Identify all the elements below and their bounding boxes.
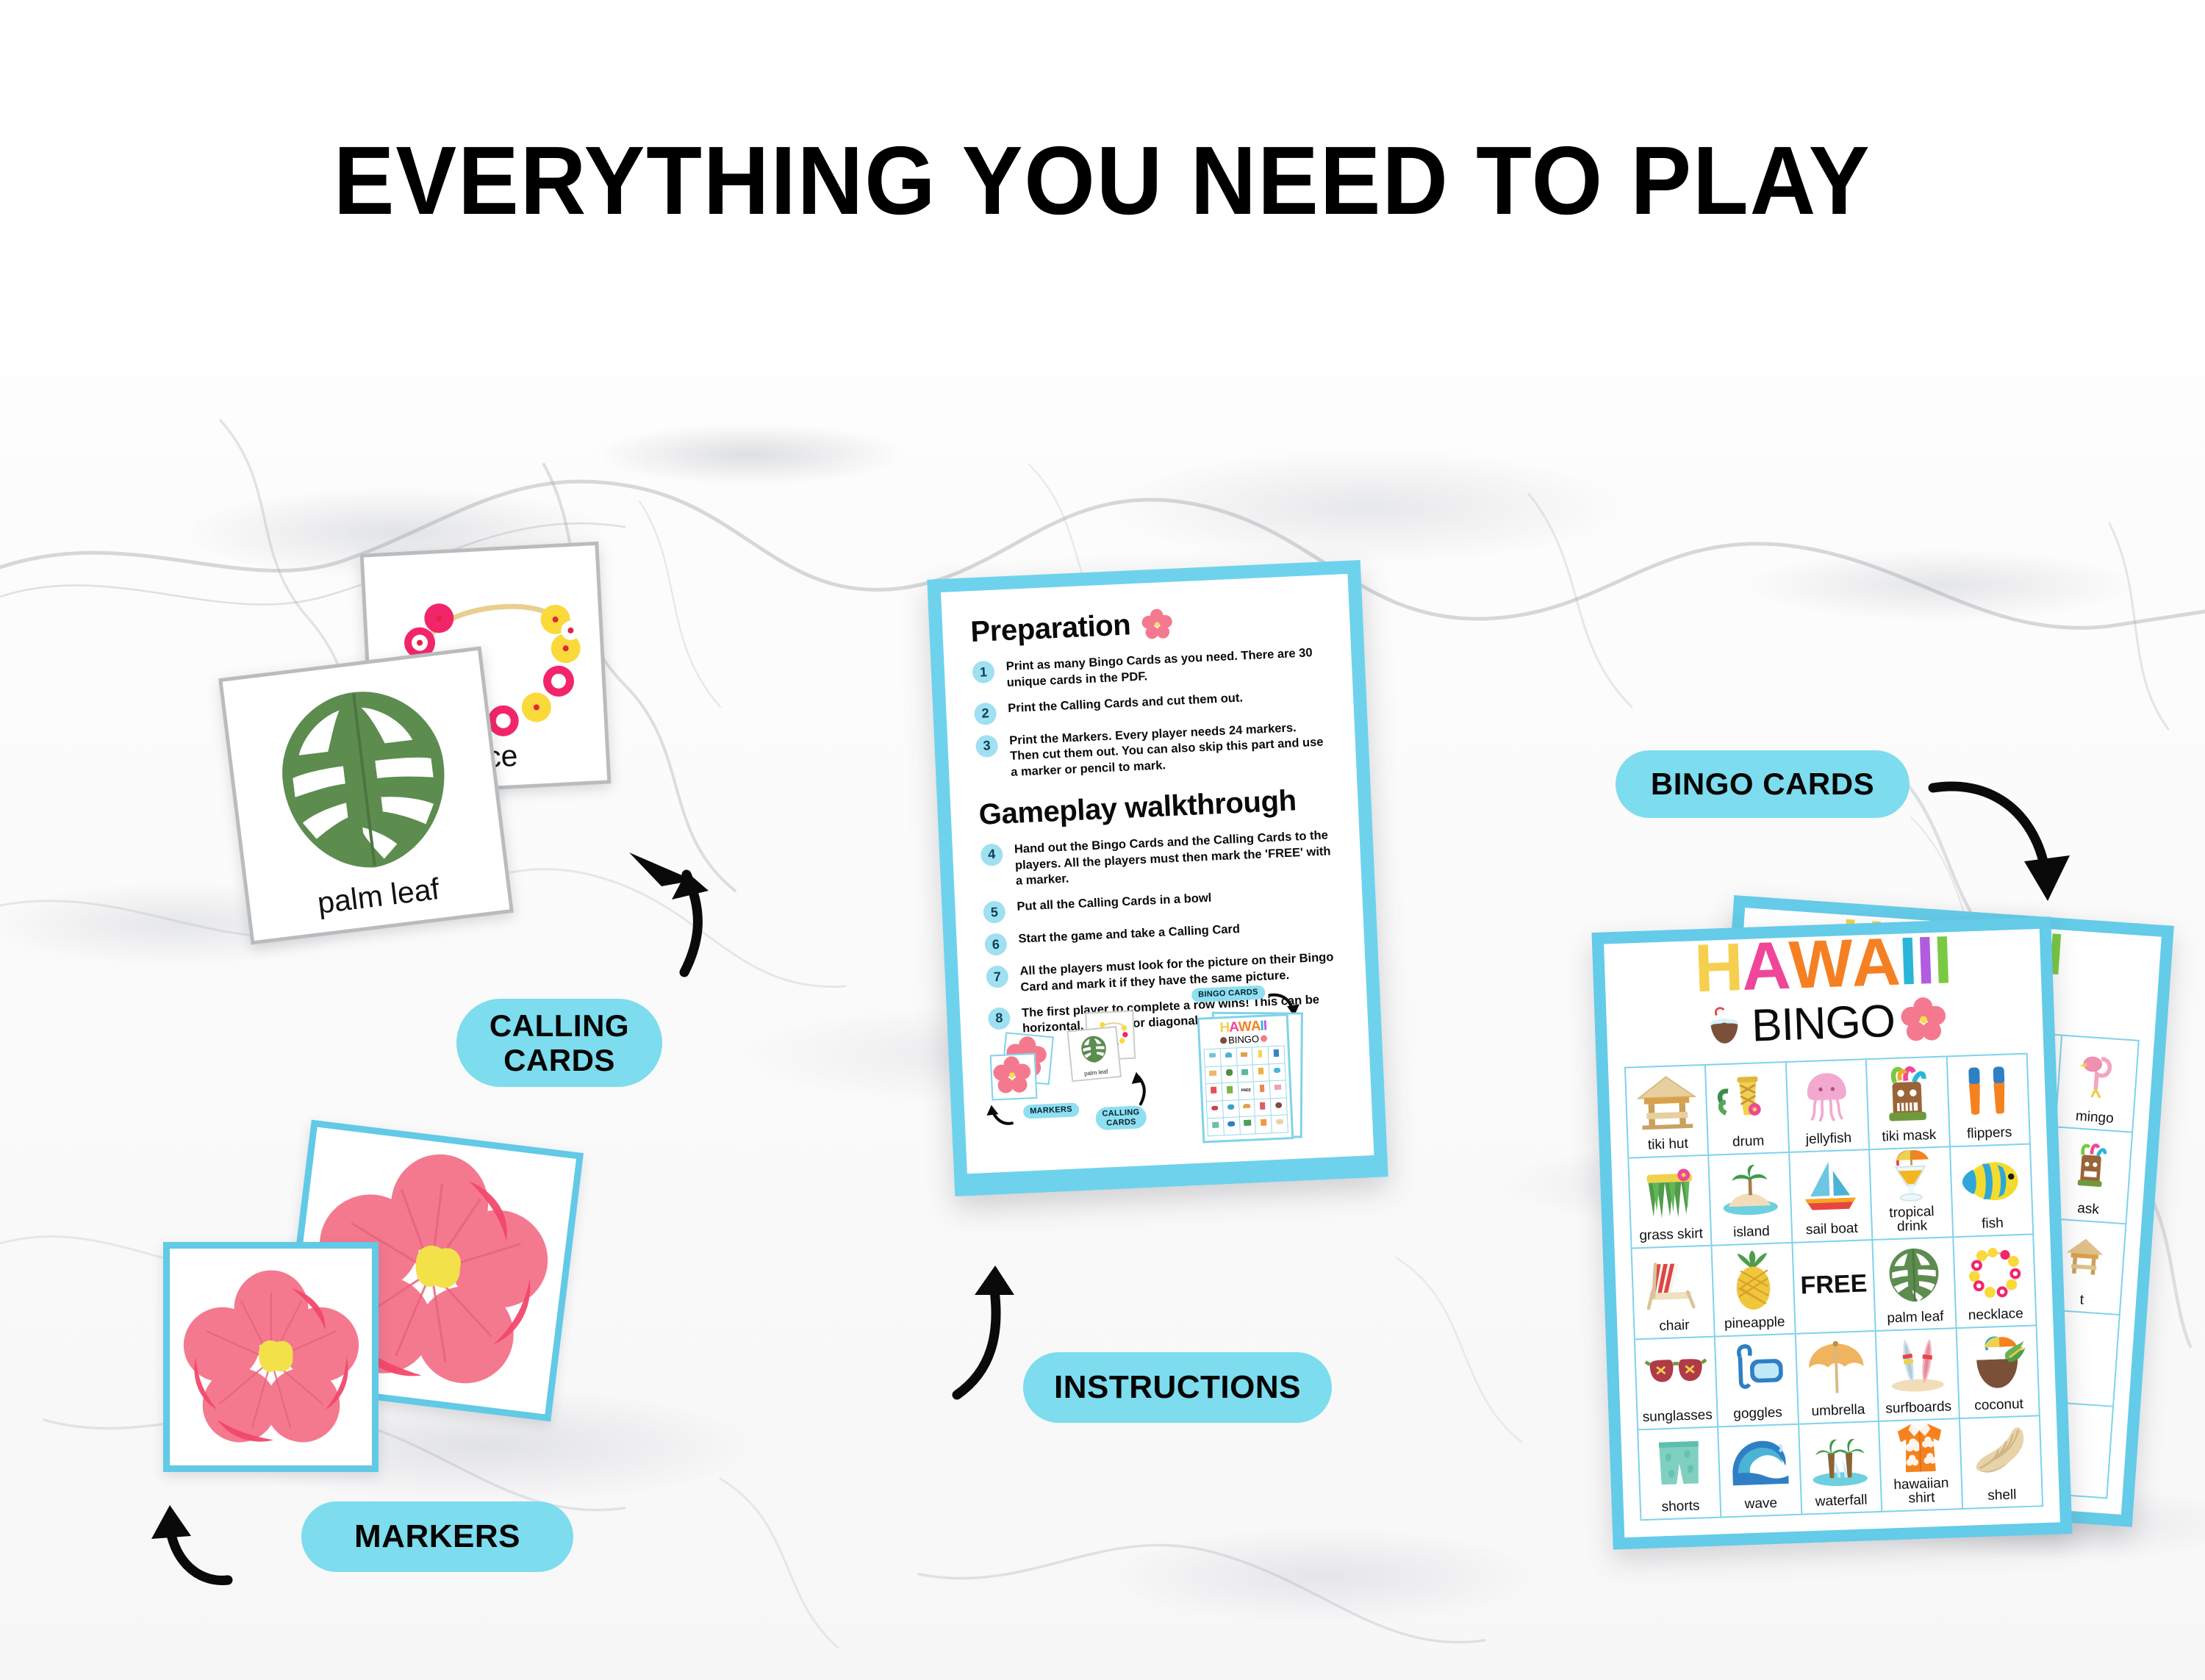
mini-bingo-subtitle: BINGO — [1228, 1034, 1259, 1045]
arrow-markers — [146, 1485, 300, 1602]
pink-hibiscus-icon — [176, 1254, 367, 1460]
step-item: 3 Print the Markers. Every player needs … — [975, 719, 1328, 783]
hawaiian-shirt-icon — [1879, 1419, 1960, 1479]
pink-hibiscus-icon — [1900, 997, 1947, 1044]
step-number: 5 — [983, 901, 1005, 924]
bingo-cell-tiki-mask[interactable]: tiki mask — [1867, 1057, 1951, 1150]
step-text: Start the game and take a Calling Card — [1018, 922, 1240, 947]
flamingo-icon — [2057, 1036, 2138, 1113]
title-letter: A — [1740, 935, 1790, 999]
mini-pill-markers: MARKERS — [1023, 1102, 1079, 1119]
instructions-heading-preparation: Preparation — [970, 600, 1323, 650]
cell-label: goggles — [1733, 1405, 1782, 1422]
coconut-drink-icon — [1702, 1004, 1746, 1049]
cell-label: hawaiian shirt — [1882, 1476, 1962, 1508]
bingo-cell-sunglasses[interactable]: sunglasses — [1635, 1337, 1719, 1430]
bingo-cell-island[interactable]: island — [1710, 1153, 1793, 1246]
instructions-heading-gameplay: Gameplay walkthrough — [978, 783, 1331, 832]
step-number: 2 — [974, 702, 997, 725]
cell-label: drum — [1732, 1134, 1765, 1150]
free-label: FREE — [1800, 1271, 1868, 1299]
cell-label: jellyfish — [1806, 1131, 1852, 1148]
title-letter: I — [1915, 930, 1935, 992]
cell-label: fish — [1982, 1216, 2004, 1232]
tiki-mask-icon — [1867, 1057, 1948, 1130]
cell-label: umbrella — [1811, 1402, 1865, 1420]
bingo-card-front-page: H A W A I I I BINGO — [1604, 929, 2060, 1537]
arrow-bingo-cards — [1926, 764, 2095, 926]
cell-label: t — [2079, 1293, 2084, 1309]
bingo-cell-wave[interactable]: wave — [1719, 1425, 1803, 1518]
cell-label: island — [1733, 1224, 1770, 1241]
pill-instructions[interactable]: INSTRUCTIONS — [1023, 1352, 1332, 1423]
bingo-cell-hawaiian-shirt[interactable]: hawaiian shirt — [1879, 1419, 1963, 1512]
shell-icon — [1960, 1416, 2042, 1490]
step-number: 7 — [986, 965, 1008, 988]
mini-label: palm leaf — [1072, 1067, 1120, 1078]
tiki-mask-icon — [2051, 1127, 2131, 1205]
monstera-leaf-icon — [223, 661, 504, 897]
bingo-cell-umbrella[interactable]: umbrella — [1796, 1332, 1880, 1425]
step-item: 5 Put all the Calling Cards in a bowl — [983, 885, 1335, 924]
step-item: 4 Hand out the Bingo Cards and the Calli… — [980, 828, 1333, 891]
calling-card-palm-leaf[interactable]: palm leaf — [218, 646, 514, 944]
pineapple-icon — [1713, 1243, 1794, 1317]
pill-instructions-label: INSTRUCTIONS — [1054, 1369, 1301, 1405]
pink-hibiscus-icon — [992, 1055, 1033, 1096]
flower-lei-icon — [1954, 1235, 2035, 1309]
tropical-drink-icon — [1870, 1147, 1951, 1207]
wave-icon — [1719, 1425, 1801, 1498]
cell-label: surfboards — [1885, 1399, 1951, 1417]
surfboards-icon — [1876, 1329, 1958, 1402]
cell-label: palm leaf — [1887, 1309, 1944, 1327]
mini-calling-palm-leaf: palm leaf — [1067, 1026, 1122, 1082]
step-text: Print the Markers. Every player needs 24… — [1009, 719, 1329, 781]
bingo-cell-fish[interactable]: fish — [1951, 1145, 2034, 1238]
cell-label: grass skirt — [1639, 1227, 1703, 1245]
bingo-cell-shorts[interactable]: shorts — [1638, 1427, 1722, 1521]
title-letter: I — [1932, 929, 1952, 991]
bingo-cell-pineapple[interactable]: pineapple — [1713, 1243, 1796, 1337]
flippers-icon — [1947, 1055, 2029, 1128]
instructions-page: Preparation 1 Print as many Bingo Cards … — [941, 574, 1374, 1174]
bingo-cell-tiki-hut[interactable]: tiki hut — [1626, 1066, 1710, 1159]
step-text: Hand out the Bingo Cards and the Calling… — [1014, 828, 1334, 890]
beach-chair-icon — [1632, 1246, 1714, 1320]
bingo-cell-jellyfish[interactable]: jellyfish — [1787, 1060, 1871, 1153]
coconut-icon — [1957, 1326, 2038, 1399]
pill-calling-cards[interactable]: CALLING CARDS — [456, 999, 662, 1087]
bingo-cell-flippers[interactable]: flippers — [1947, 1055, 2031, 1148]
page-title: EVERYTHING YOU NEED TO PLAY — [334, 125, 1871, 236]
step-item: 2 Print the Calling Cards and cut them o… — [974, 686, 1326, 725]
bingo-cell-palm-leaf[interactable]: palm leaf — [1874, 1238, 1957, 1332]
mini-marker-front — [990, 1053, 1038, 1101]
bingo-subtitle-row: BINGO — [1702, 993, 1947, 1054]
bingo-cell-waterfall[interactable]: waterfall — [1799, 1422, 1883, 1515]
step-text: Print as many Bingo Cards as you need. T… — [1005, 645, 1324, 691]
mini-arrow-markers — [986, 1102, 1022, 1130]
bingo-card-header: H A W A I I I BINGO — [1604, 929, 2043, 1055]
tiki-hut-icon — [1626, 1066, 1707, 1139]
pill-markers-label: MARKERS — [354, 1518, 520, 1554]
title-letter: I — [1898, 930, 1918, 993]
sunglasses-icon — [1635, 1337, 1717, 1410]
step-number: 6 — [984, 933, 1007, 956]
pill-markers[interactable]: MARKERS — [301, 1501, 573, 1572]
bingo-title: H A W A I I I — [1693, 929, 1952, 1000]
header-banner: EVERYTHING YOU NEED TO PLAY — [0, 0, 2205, 376]
cell-label: shorts — [1661, 1499, 1699, 1516]
bingo-cell-necklace[interactable]: necklace — [1954, 1235, 2037, 1329]
cell-label: tiki mask — [1882, 1128, 1937, 1146]
mini-pill-bingo-cards: BINGO CARDS — [1191, 986, 1265, 1002]
fish-icon — [1951, 1145, 2032, 1218]
step-text: Put all the Calling Cards in a bowl — [1017, 891, 1212, 916]
title-letter: W — [1788, 933, 1853, 997]
step-number: 4 — [980, 843, 1003, 866]
monstera-leaf-icon — [1874, 1238, 1955, 1312]
cell-label: coconut — [1974, 1397, 2023, 1414]
pill-bingo-cards[interactable]: BINGO CARDS — [1616, 750, 1910, 818]
marker-card-front[interactable] — [163, 1242, 379, 1472]
shorts-icon — [1638, 1427, 1720, 1501]
bingo-cell-coconut[interactable]: coconut — [1957, 1326, 2040, 1419]
bingo-cell-free[interactable]: FREE — [1793, 1241, 1876, 1334]
cell-label: shell — [1987, 1487, 2017, 1504]
bingo-cell-surfboards[interactable]: surfboards — [1876, 1329, 1960, 1422]
bingo-cell-goggles[interactable]: goggles — [1715, 1334, 1799, 1427]
cell-label: tiki hut — [1648, 1137, 1689, 1154]
title-letter: H — [1693, 936, 1743, 1000]
bingo-cell-chair[interactable]: chair — [1632, 1246, 1716, 1340]
step-text: Print the Calling Cards and cut them out… — [1008, 690, 1244, 717]
bingo-cell-shell[interactable]: shell — [1960, 1416, 2044, 1510]
bingo-back-cell-flamingo: mingo — [2056, 1036, 2140, 1133]
sail-boat-icon — [1790, 1150, 1871, 1224]
bingo-cell-grass-skirt[interactable]: grass skirt — [1629, 1156, 1713, 1249]
cell-label: necklace — [1968, 1307, 2023, 1324]
step-number: 3 — [975, 734, 998, 757]
cell-label: tropical drink — [1872, 1205, 1952, 1237]
cell-label: sunglasses — [1642, 1408, 1713, 1426]
title-letter: A — [1851, 931, 1900, 995]
mini-free: FREE — [1238, 1083, 1255, 1101]
island-icon — [1710, 1153, 1791, 1227]
cell-label: chair — [1659, 1318, 1690, 1334]
mini-pill-line2: CARDS — [1102, 1117, 1141, 1128]
bingo-back-cell-tiki-mask: ask — [2049, 1127, 2133, 1224]
drum-icon — [1706, 1063, 1788, 1136]
bingo-cell-tropical-drink[interactable]: tropical drink — [1870, 1147, 1954, 1241]
pink-flower-icon — [1140, 607, 1174, 641]
beach-umbrella-icon — [1796, 1332, 1878, 1405]
monstera-leaf-icon — [1075, 1032, 1112, 1067]
bingo-cell-drum[interactable]: drum — [1706, 1063, 1790, 1156]
pill-bingo-cards-label: BINGO CARDS — [1651, 767, 1874, 801]
cell-label: flippers — [1967, 1126, 2012, 1143]
steps-preparation: 1 Print as many Bingo Cards as you need.… — [972, 645, 1328, 782]
pill-calling-cards-line1: CALLING — [490, 1008, 629, 1043]
cell-label: waterfall — [1815, 1493, 1868, 1510]
arrow-calling-cards — [607, 829, 791, 1013]
goggles-icon — [1715, 1334, 1797, 1407]
bingo-cell-sail-boat[interactable]: sail boat — [1790, 1150, 1874, 1243]
jellyfish-icon — [1787, 1060, 1868, 1133]
pill-calling-cards-line2: CARDS — [503, 1043, 615, 1077]
bingo-subtitle: BINGO — [1751, 995, 1896, 1052]
mini-arrow-calling — [1122, 1066, 1157, 1109]
grass-skirt-icon — [1629, 1156, 1710, 1230]
bingo-grid: tiki hut drum — [1624, 1053, 2043, 1521]
cell-label: mingo — [2075, 1109, 2114, 1127]
instructions-sheet[interactable]: Preparation 1 Print as many Bingo Cards … — [927, 560, 1388, 1196]
cell-label: wave — [1744, 1496, 1777, 1513]
cell-label: pineapple — [1724, 1315, 1785, 1332]
cell-label: ask — [2077, 1201, 2100, 1218]
mini-pill-calling-cards: CALLING CARDS — [1095, 1105, 1147, 1130]
step-number: 1 — [972, 661, 994, 683]
mini-bingo-card-front: HAWAII BINGO — [1197, 1013, 1294, 1143]
instructions-mini-scene: MARKERS lace — [988, 993, 1359, 1156]
step-item: 1 Print as many Bingo Cards as you need.… — [972, 645, 1324, 692]
cell-label: sail boat — [1806, 1221, 1858, 1238]
bingo-card-front[interactable]: H A W A I I I BINGO — [1592, 916, 2073, 1549]
step-item: 6 Start the game and take a Calling Card — [984, 917, 1336, 956]
waterfall-icon — [1799, 1422, 1881, 1496]
